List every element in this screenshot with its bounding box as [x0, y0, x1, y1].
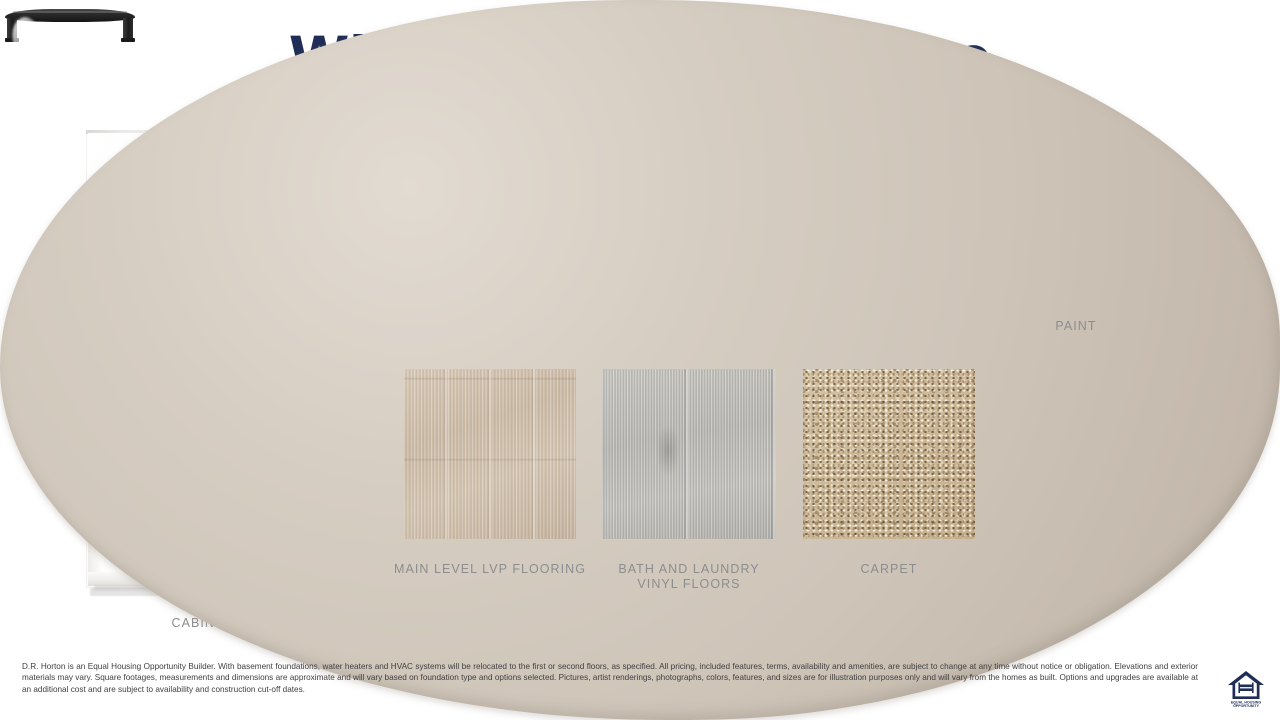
caption-main-level-lvp-flooring: MAIN LEVEL LVP FLOORING	[391, 562, 589, 577]
swatch-carpet[interactable]	[803, 369, 975, 539]
swatch-bath-and-laundry-vinyl-floors[interactable]	[602, 369, 776, 539]
caption-carpet: CARPET	[790, 562, 988, 577]
eho-line2: OPPORTUNITY	[1233, 704, 1260, 708]
caption-bath-and-laundry-vinyl-floors: BATH AND LAUNDRY VINYL FLOORS	[590, 562, 788, 592]
legal-disclaimer: D.R. Horton is an Equal Housing Opportun…	[22, 661, 1198, 695]
bar-pull-right-base	[121, 38, 135, 42]
equal-housing-opportunity-logo: EQUAL HOUSING OPPORTUNITY	[1226, 668, 1266, 708]
bar-pull-right-post	[123, 18, 133, 40]
paint-blob	[0, 0, 1280, 720]
swatch-main-level-lvp-flooring[interactable]	[404, 369, 576, 539]
caption-paint: PAINT	[977, 319, 1175, 334]
